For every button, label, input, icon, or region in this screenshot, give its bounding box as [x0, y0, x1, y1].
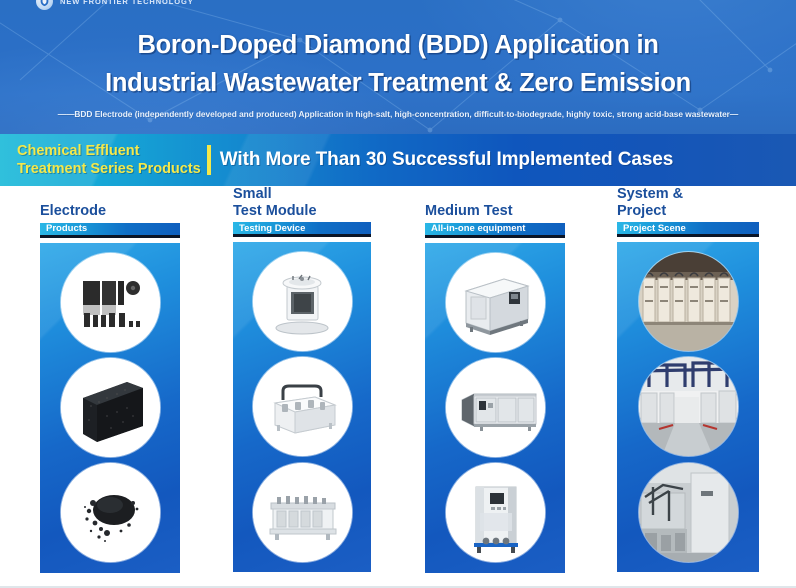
- medium-upright-unit-photo[interactable]: [446, 463, 545, 562]
- page-subtitle: ——BDD Electrode (independently developed…: [0, 109, 796, 119]
- hero-header: NEW FRONTIER TECHNOLOGY Boron-Doped Diam…: [0, 0, 796, 134]
- column-small-test-module-panel: [233, 242, 371, 572]
- banner-series-line1: Chemical Effluent: [17, 142, 201, 160]
- project-plant-interior-photo[interactable]: [639, 357, 738, 456]
- banner-series-line2: Treatment Series Products: [17, 160, 201, 178]
- column-system-project: System & Project Project Scene: [617, 186, 759, 572]
- column-system-project-title-line2: Project: [617, 203, 759, 220]
- column-small-test-module-title-line2: Test Module: [233, 203, 371, 220]
- poster-page: NEW FRONTIER TECHNOLOGY Boron-Doped Diam…: [0, 0, 796, 588]
- column-small-test-module: Small Test Module Testing Device: [233, 186, 371, 572]
- shield-logo-icon: [36, 0, 53, 10]
- banner-divider: [207, 145, 211, 175]
- column-medium-test-title-line1: Medium Test: [425, 203, 565, 220]
- page-title-line1: Boron-Doped Diamond (BDD) Application in: [137, 31, 658, 59]
- project-piping-skid-photo[interactable]: [639, 463, 738, 562]
- column-electrode-subtitle: Products: [40, 223, 180, 238]
- column-medium-test-panel: [425, 243, 565, 573]
- column-small-test-module-title: Small Test Module: [233, 186, 371, 219]
- column-system-project-subtitle: Project Scene: [617, 222, 759, 237]
- banner-series-label: Chemical Effluent Treatment Series Produ…: [17, 142, 201, 178]
- banner-headline: With More Than 30 Successful Implemented…: [220, 149, 673, 171]
- column-electrode: Electrode Products: [40, 186, 180, 573]
- column-system-project-title-line1: System &: [617, 186, 759, 203]
- column-small-test-module-subtitle: Testing Device: [233, 222, 371, 237]
- brand-logo: NEW FRONTIER TECHNOLOGY: [36, 0, 194, 10]
- bdd-electrode-plates-photo[interactable]: [61, 253, 160, 352]
- column-small-test-module-title-line1: Small: [233, 186, 371, 203]
- highlight-banner: Chemical Effluent Treatment Series Produ…: [0, 134, 796, 186]
- bdd-electrode-foam-block-photo[interactable]: [61, 358, 160, 457]
- column-system-project-panel: [617, 242, 759, 572]
- medium-long-container-unit-photo[interactable]: [446, 358, 545, 457]
- brand-logo-text: NEW FRONTIER TECHNOLOGY: [60, 0, 194, 6]
- column-medium-test-subtitle: All-in-one equipment: [425, 223, 565, 238]
- column-medium-test-title: Medium Test: [425, 203, 565, 220]
- medium-cabinet-skid-photo[interactable]: [446, 253, 545, 352]
- column-system-project-title: System & Project: [617, 186, 759, 219]
- bdd-electrode-powder-photo[interactable]: [61, 463, 160, 562]
- small-bench-test-unit-photo[interactable]: [253, 357, 352, 456]
- page-title: Boron-Doped Diamond (BDD) Application in…: [0, 26, 796, 102]
- small-multi-cell-rack-photo[interactable]: [253, 463, 352, 562]
- column-electrode-title: Electrode: [40, 203, 180, 220]
- column-electrode-panel: [40, 243, 180, 573]
- page-title-line2: Industrial Wastewater Treatment & Zero E…: [0, 64, 796, 102]
- small-beaker-test-cell-photo[interactable]: [253, 252, 352, 351]
- column-medium-test: Medium Test All-in-one equipment: [425, 186, 565, 573]
- column-electrode-title-line1: Electrode: [40, 203, 180, 220]
- product-columns: Electrode Products: [0, 186, 796, 588]
- project-electrolysis-hall-photo[interactable]: [639, 252, 738, 351]
